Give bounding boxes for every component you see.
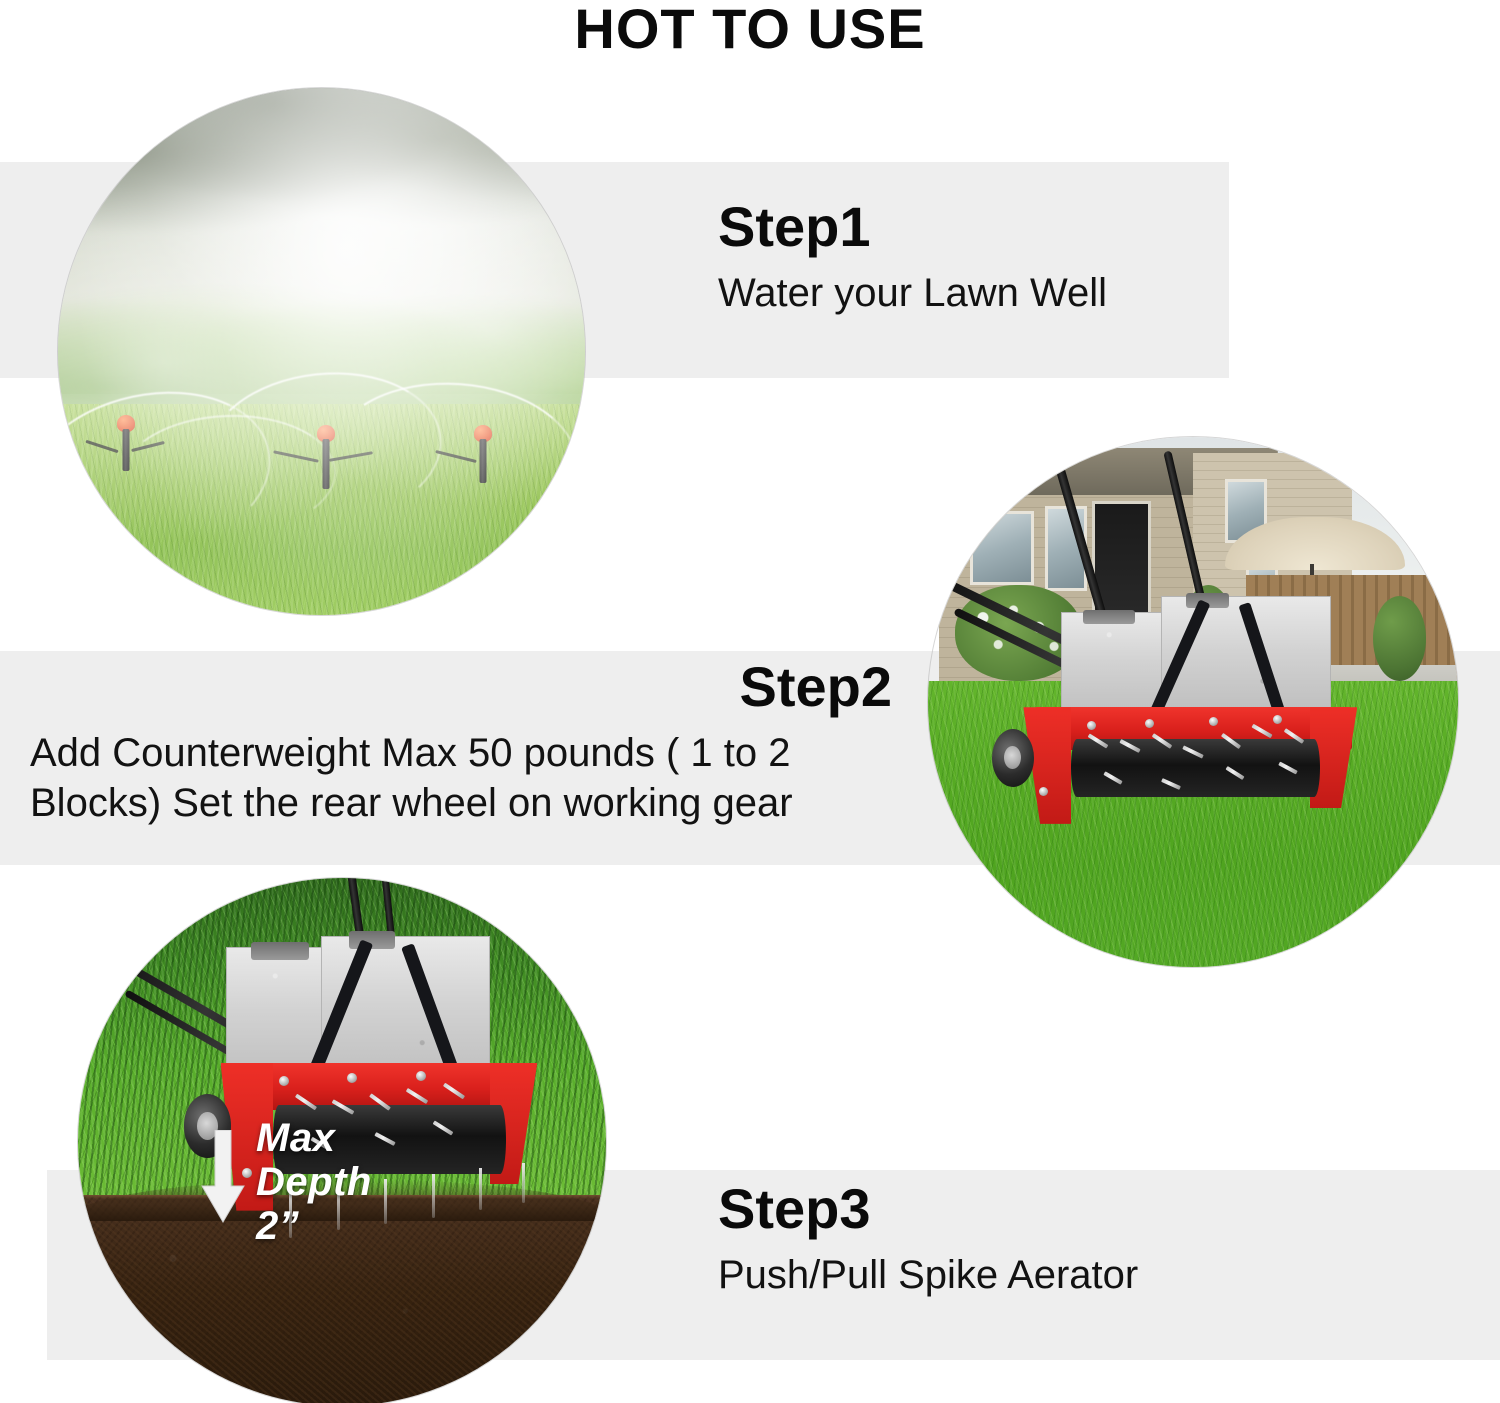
step1-text-block: Step1 Water your Lawn Well bbox=[718, 196, 1238, 318]
frame-bolt bbox=[416, 1071, 426, 1081]
garden-bush bbox=[1373, 596, 1426, 681]
frame-bolt bbox=[1087, 721, 1096, 730]
frame-bolt bbox=[279, 1076, 289, 1086]
water-mist-overlay bbox=[58, 88, 585, 615]
step2-text-block: Step2 Add Counterweight Max 50 pounds ( … bbox=[30, 656, 910, 828]
backyard-scene bbox=[928, 437, 1458, 967]
step1-title: Step1 bbox=[718, 196, 1238, 258]
block-hole bbox=[251, 942, 309, 960]
max-depth-label: Max Depth 2” bbox=[256, 1116, 372, 1248]
infographic-page: HOT TO USE bbox=[0, 0, 1500, 1403]
max-depth-arrow-icon bbox=[200, 1130, 246, 1226]
soil-cross-section-scene: Max Depth 2” bbox=[78, 878, 606, 1403]
soil-penetrating-spike bbox=[384, 1179, 387, 1224]
step2-title: Step2 bbox=[30, 656, 910, 718]
soil-penetrating-spike bbox=[522, 1163, 525, 1203]
frame-bolt bbox=[1209, 717, 1218, 726]
step3-title: Step3 bbox=[718, 1178, 1258, 1240]
step1-image-sprinkler bbox=[58, 88, 585, 615]
house-window bbox=[970, 511, 1034, 585]
wheel-hub bbox=[1004, 746, 1021, 769]
spike-drum bbox=[1071, 739, 1320, 797]
step2-image-aerator-lawn bbox=[928, 437, 1458, 967]
sprinkler-scene bbox=[58, 88, 585, 615]
soil-penetrating-spike bbox=[479, 1168, 482, 1210]
rear-wheel bbox=[992, 729, 1034, 787]
page-title: HOT TO USE bbox=[0, 0, 1500, 62]
soil-penetrating-spike bbox=[432, 1174, 435, 1218]
step1-description: Water your Lawn Well bbox=[718, 268, 1238, 318]
step3-text-block: Step3 Push/Pull Spike Aerator bbox=[718, 1178, 1258, 1300]
frame-bolt bbox=[1273, 715, 1282, 724]
step3-description: Push/Pull Spike Aerator bbox=[718, 1250, 1258, 1300]
block-hole bbox=[1083, 610, 1135, 624]
step3-image-aerator-soil: Max Depth 2” bbox=[78, 878, 606, 1403]
step2-description: Add Counterweight Max 50 pounds ( 1 to 2… bbox=[30, 728, 910, 828]
